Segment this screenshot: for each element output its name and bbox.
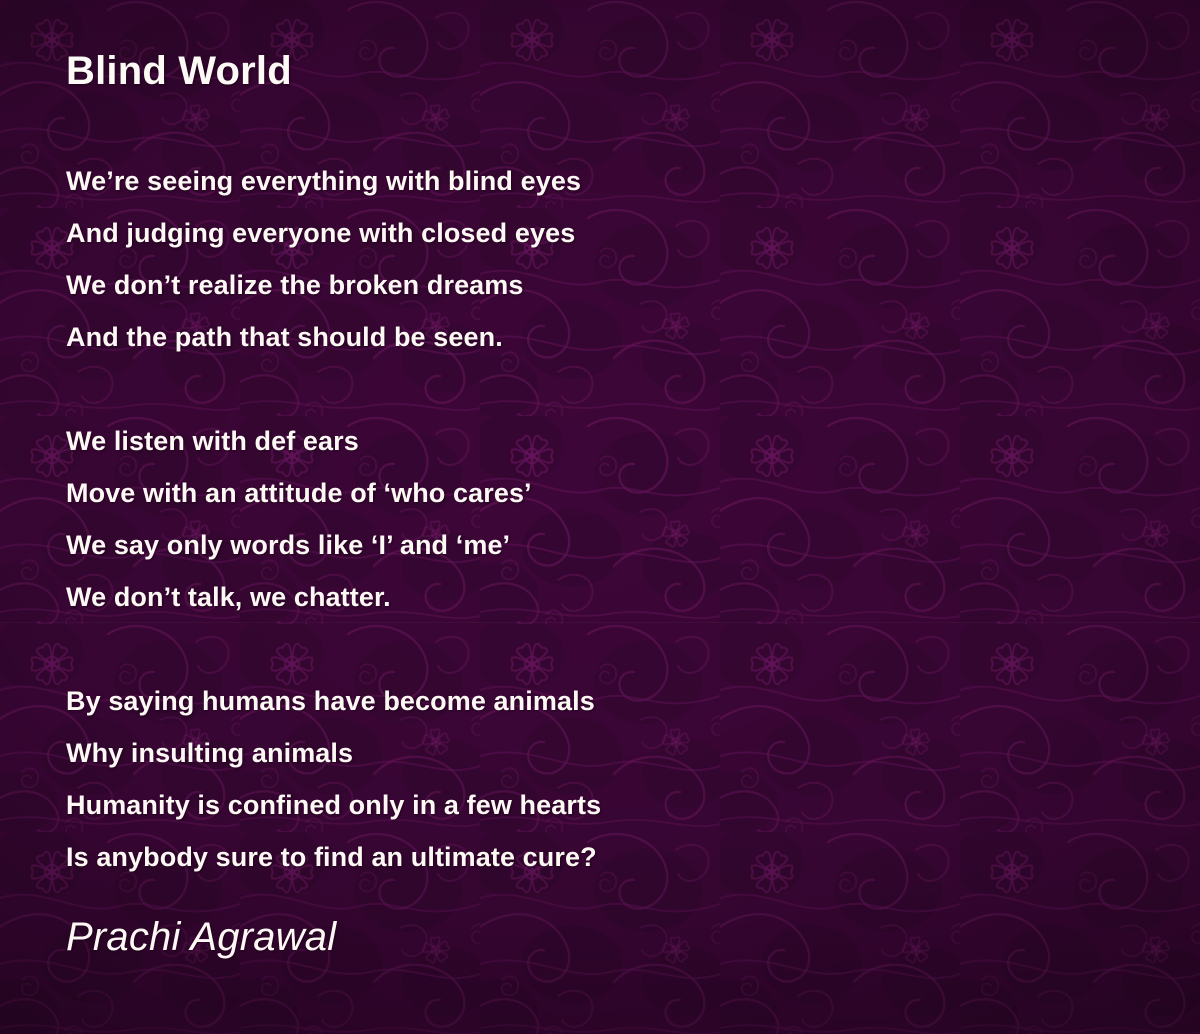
poem-image: Blind World We’re seeing everything with…: [0, 0, 1200, 1034]
poem-line: And the path that should be seen.: [66, 311, 1126, 363]
poem-stanza: We’re seeing everything with blind eyes …: [66, 155, 1126, 363]
poem-line: We don’t talk, we chatter.: [66, 571, 1126, 623]
poem-line: We don’t realize the broken dreams: [66, 259, 1126, 311]
poem-line: And judging everyone with closed eyes: [66, 207, 1126, 259]
poem-line: By saying humans have become animals: [66, 675, 1126, 727]
poem-line: Why insulting animals: [66, 727, 1126, 779]
poem-title: Blind World: [66, 48, 292, 94]
poem-line: Move with an attitude of ‘who cares’: [66, 467, 1126, 519]
poem-line: Humanity is confined only in a few heart…: [66, 779, 1126, 831]
poem-stanza: We listen with def ears Move with an att…: [66, 415, 1126, 623]
poem-author-signature: Prachi Agrawal: [66, 912, 336, 962]
poem-body: We’re seeing everything with blind eyes …: [66, 155, 1126, 883]
poem-stanza: By saying humans have become animals Why…: [66, 675, 1126, 883]
poem-content: Blind World We’re seeing everything with…: [66, 0, 1200, 1034]
poem-line: We listen with def ears: [66, 415, 1126, 467]
poem-line: We’re seeing everything with blind eyes: [66, 155, 1126, 207]
poem-line: Is anybody sure to find an ultimate cure…: [66, 831, 1126, 883]
poem-line: We say only words like ‘I’ and ‘me’: [66, 519, 1126, 571]
